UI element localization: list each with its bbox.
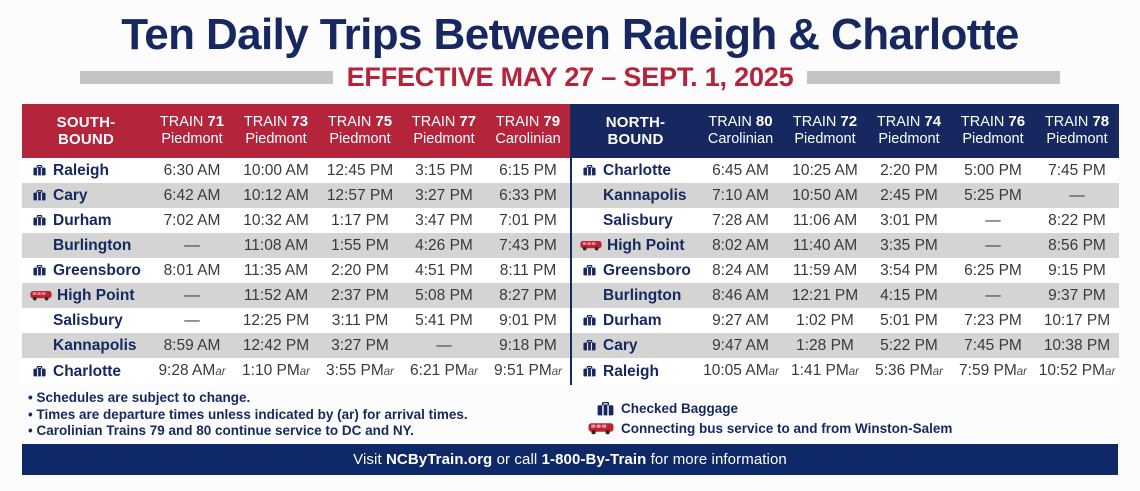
time-cell: 5:22 PM xyxy=(867,333,951,358)
station-cell-inner: Burlington xyxy=(30,237,150,254)
southbound-body: Raleigh6:30 AM10:00 AM12:45 PM3:15 PM6:1… xyxy=(22,158,570,385)
table-row: Salisbury—12:25 PM3:11 PM5:41 PM9:01 PM xyxy=(22,308,570,333)
station-cell: High Point xyxy=(571,233,699,258)
baggage-icon xyxy=(30,265,48,276)
effective-dates: EFFECTIVE MAY 27 – SEPT. 1, 2025 xyxy=(347,62,794,92)
station-name: Charlotte xyxy=(603,162,671,179)
table-row: High Point—11:52 AM2:37 PM5:08 PM8:27 PM xyxy=(22,283,570,308)
time-cell: 4:51 PM xyxy=(402,258,486,283)
column-train-75[interactable]: TRAIN 75 Piedmont xyxy=(318,104,402,158)
time-cell: 8:46 AM xyxy=(699,283,783,308)
time-cell: 8:24 AM xyxy=(699,258,783,283)
time-cell-empty: — xyxy=(150,308,234,333)
time-cell: 7:43 PM xyxy=(486,233,570,258)
time-cell: 6:42 AM xyxy=(150,183,234,208)
time-cell: 6:15 PM xyxy=(486,158,570,183)
baggage-icon xyxy=(580,165,598,176)
time-cell: 3:54 PM xyxy=(867,258,951,283)
time-cell: 12:57 PM xyxy=(318,183,402,208)
time-cell-empty: — xyxy=(951,283,1035,308)
station-name: Salisbury xyxy=(603,212,673,229)
station-name: Kannapolis xyxy=(603,187,687,204)
time-cell: 12:45 PM xyxy=(318,158,402,183)
time-cell: 12:21 PM xyxy=(783,283,867,308)
station-name: Durham xyxy=(53,212,112,229)
northbound-header: NORTH- BOUND TRAIN 80 Carolinian TRAIN 7… xyxy=(571,104,1119,158)
time-cell: 5:00 PM xyxy=(951,158,1035,183)
time-cell: 11:40 AM xyxy=(783,233,867,258)
baggage-icon xyxy=(30,190,48,201)
station-cell-inner: Cary xyxy=(30,187,150,204)
table-row: High Point8:02 AM11:40 AM3:35 PM—8:56 PM xyxy=(571,233,1119,258)
bus-icon xyxy=(30,290,52,301)
rule-left xyxy=(80,71,333,84)
table-row: Burlington—11:08 AM1:55 PM4:26 PM7:43 PM xyxy=(22,233,570,258)
legend: Checked Baggage Connecting bus service t… xyxy=(588,400,1108,440)
baggage-icon xyxy=(30,366,48,377)
station-cell-inner: Burlington xyxy=(580,287,699,304)
station-name: Cary xyxy=(53,187,87,204)
arrival-marker: ar xyxy=(552,366,562,378)
northbound-direction-label: NORTH- BOUND xyxy=(571,104,699,158)
time-cell: 6:33 PM xyxy=(486,183,570,208)
arrival-marker: ar xyxy=(468,366,478,378)
baggage-icon xyxy=(580,340,598,351)
southbound-header: SOUTH- BOUND TRAIN 71 Piedmont TRAIN 73 … xyxy=(22,104,570,158)
page-title: Ten Daily Trips Between Raleigh & Charlo… xyxy=(0,8,1140,62)
table-row: Burlington8:46 AM12:21 PM4:15 PM—9:37 PM xyxy=(571,283,1119,308)
time-cell-empty: — xyxy=(150,283,234,308)
time-cell: 1:55 PM xyxy=(318,233,402,258)
arrival-marker: ar xyxy=(215,366,225,378)
time-cell: 6:30 AM xyxy=(150,158,234,183)
time-cell: 3:47 PM xyxy=(402,208,486,233)
time-cell: 1:10 PMar xyxy=(234,358,318,385)
time-cell: 9:15 PM xyxy=(1035,258,1119,283)
legend-label: Checked Baggage xyxy=(621,400,738,417)
time-cell-empty: — xyxy=(1035,183,1119,208)
time-cell: 3:55 PMar xyxy=(318,358,402,385)
time-cell: 4:15 PM xyxy=(867,283,951,308)
time-cell: 1:41 PMar xyxy=(783,358,867,385)
contact-suffix: for more information xyxy=(646,451,786,468)
time-cell: 3:27 PM xyxy=(318,333,402,358)
column-train-72[interactable]: TRAIN 72 Piedmont xyxy=(783,104,867,158)
southbound-direction-label: SOUTH- BOUND xyxy=(22,104,150,158)
arrival-marker: ar xyxy=(933,366,943,378)
time-cell: 10:50 AM xyxy=(783,183,867,208)
station-cell-inner: Salisbury xyxy=(580,212,699,229)
contact-prefix: Visit xyxy=(353,451,386,468)
table-row: Durham9:27 AM1:02 PM5:01 PM7:23 PM10:17 … xyxy=(571,308,1119,333)
time-cell: 7:45 PM xyxy=(951,333,1035,358)
legend-item-connecting-bus: Connecting bus service to and from Winst… xyxy=(588,420,1108,437)
time-cell: 6:25 PM xyxy=(951,258,1035,283)
bus-icon xyxy=(580,240,602,251)
station-cell: Durham xyxy=(571,308,699,333)
station-cell: Raleigh xyxy=(571,358,699,385)
contact-text: Visit NCByTrain.org or call 1-800-By-Tra… xyxy=(353,451,787,468)
time-cell: 1:17 PM xyxy=(318,208,402,233)
time-cell: 7:28 AM xyxy=(699,208,783,233)
time-cell: 9:28 AMar xyxy=(150,358,234,385)
station-name: Raleigh xyxy=(53,162,109,179)
station-name: Burlington xyxy=(53,237,131,254)
table-row: Raleigh10:05 AMar1:41 PMar5:36 PMar7:59 … xyxy=(571,358,1119,385)
southbound-table: SOUTH- BOUND TRAIN 71 Piedmont TRAIN 73 … xyxy=(22,104,570,385)
time-cell: 3:35 PM xyxy=(867,233,951,258)
station-cell: Burlington xyxy=(22,233,150,258)
station-cell: Durham xyxy=(22,208,150,233)
time-cell: 1:28 PM xyxy=(783,333,867,358)
station-cell: Cary xyxy=(571,333,699,358)
rule-right xyxy=(807,71,1060,84)
station-name: Salisbury xyxy=(53,312,123,329)
arrival-marker: ar xyxy=(384,366,394,378)
station-cell: Salisbury xyxy=(22,308,150,333)
station-cell-inner: Greensboro xyxy=(30,262,150,279)
time-cell: 7:45 PM xyxy=(1035,158,1119,183)
baggage-icon xyxy=(30,215,48,226)
northbound-body: Charlotte6:45 AM10:25 AM2:20 PM5:00 PM7:… xyxy=(571,158,1119,385)
footnote-item: • Schedules are subject to change. xyxy=(28,390,568,407)
arrival-marker: ar xyxy=(1017,366,1027,378)
footnotes: • Schedules are subject to change. • Tim… xyxy=(28,390,568,440)
time-cell: 8:11 PM xyxy=(486,258,570,283)
table-row: Durham7:02 AM10:32 AM1:17 PM3:47 PM7:01 … xyxy=(22,208,570,233)
station-cell: Kannapolis xyxy=(571,183,699,208)
legend-label: Connecting bus service to and from Winst… xyxy=(621,420,952,437)
station-cell-inner: High Point xyxy=(30,287,150,304)
table-row: Salisbury7:28 AM11:06 AM3:01 PM—8:22 PM xyxy=(571,208,1119,233)
time-cell: 10:38 PM xyxy=(1035,333,1119,358)
table-row: Charlotte6:45 AM10:25 AM2:20 PM5:00 PM7:… xyxy=(571,158,1119,183)
baggage-icon xyxy=(580,315,598,326)
station-cell-inner: Durham xyxy=(580,312,699,329)
time-cell: 3:11 PM xyxy=(318,308,402,333)
station-name: Greensboro xyxy=(603,262,691,279)
table-row: Cary6:42 AM10:12 AM12:57 PM3:27 PM6:33 P… xyxy=(22,183,570,208)
time-cell: 10:25 AM xyxy=(783,158,867,183)
time-cell: 8:22 PM xyxy=(1035,208,1119,233)
time-cell: 9:01 PM xyxy=(486,308,570,333)
time-cell: 10:05 AMar xyxy=(699,358,783,385)
time-cell: 5:08 PM xyxy=(402,283,486,308)
station-cell: Cary xyxy=(22,183,150,208)
station-cell: Kannapolis xyxy=(22,333,150,358)
station-cell: Salisbury xyxy=(571,208,699,233)
time-cell: 11:35 AM xyxy=(234,258,318,283)
station-cell-inner: Kannapolis xyxy=(30,337,150,354)
time-cell: 9:27 AM xyxy=(699,308,783,333)
time-cell: 9:37 PM xyxy=(1035,283,1119,308)
contact-bar: Visit NCByTrain.org or call 1-800-By-Tra… xyxy=(22,444,1118,475)
time-cell: 9:51 PMar xyxy=(486,358,570,385)
time-cell: 11:06 AM xyxy=(783,208,867,233)
station-name: Durham xyxy=(603,312,662,329)
time-cell: 10:12 AM xyxy=(234,183,318,208)
arrival-marker: ar xyxy=(1105,366,1115,378)
station-name: High Point xyxy=(57,287,135,304)
arrival-marker: ar xyxy=(769,366,779,378)
station-cell-inner: Charlotte xyxy=(580,162,699,179)
bus-icon xyxy=(588,422,614,435)
arrival-marker: ar xyxy=(849,366,859,378)
time-cell-empty: — xyxy=(150,233,234,258)
header-block: Ten Daily Trips Between Raleigh & Charlo… xyxy=(0,8,1140,62)
website-link[interactable]: NCByTrain.org xyxy=(386,451,492,468)
time-cell: 8:02 AM xyxy=(699,233,783,258)
baggage-icon xyxy=(30,165,48,176)
time-cell: 5:36 PMar xyxy=(867,358,951,385)
time-cell: 8:27 PM xyxy=(486,283,570,308)
contact-middle: or call xyxy=(492,451,541,468)
table-row: Greensboro8:01 AM11:35 AM2:20 PM4:51 PM8… xyxy=(22,258,570,283)
time-cell: 8:01 AM xyxy=(150,258,234,283)
station-cell-inner: Raleigh xyxy=(580,363,699,380)
column-train-80[interactable]: TRAIN 80 Carolinian xyxy=(699,104,783,158)
column-train-74[interactable]: TRAIN 74 Piedmont xyxy=(867,104,951,158)
northbound-table: NORTH- BOUND TRAIN 80 Carolinian TRAIN 7… xyxy=(570,104,1120,385)
time-cell: 4:26 PM xyxy=(402,233,486,258)
time-cell-empty: — xyxy=(951,208,1035,233)
table-row: Greensboro8:24 AM11:59 AM3:54 PM6:25 PM9… xyxy=(571,258,1119,283)
station-cell-inner: Salisbury xyxy=(30,312,150,329)
time-cell: 10:32 AM xyxy=(234,208,318,233)
station-cell: Burlington xyxy=(571,283,699,308)
station-cell-inner: High Point xyxy=(580,237,699,254)
station-name: Greensboro xyxy=(53,262,141,279)
station-cell-inner: Charlotte xyxy=(30,363,150,380)
time-cell: 7:01 PM xyxy=(486,208,570,233)
time-cell: 7:10 AM xyxy=(699,183,783,208)
station-cell-inner: Kannapolis xyxy=(580,187,699,204)
station-cell-inner: Cary xyxy=(580,337,699,354)
time-cell: 2:45 PM xyxy=(867,183,951,208)
column-train-73[interactable]: TRAIN 73 Piedmont xyxy=(234,104,318,158)
time-cell: 2:20 PM xyxy=(318,258,402,283)
time-cell: 5:25 PM xyxy=(951,183,1035,208)
station-cell: Charlotte xyxy=(571,158,699,183)
subtitle-row: EFFECTIVE MAY 27 – SEPT. 1, 2025 xyxy=(0,60,1140,94)
time-cell: 1:02 PM xyxy=(783,308,867,333)
time-cell: 8:59 AM xyxy=(150,333,234,358)
station-cell-inner: Raleigh xyxy=(30,162,150,179)
table-row: Kannapolis8:59 AM12:42 PM3:27 PM—9:18 PM xyxy=(22,333,570,358)
table-row: Cary9:47 AM1:28 PM5:22 PM7:45 PM10:38 PM xyxy=(571,333,1119,358)
time-cell: 12:25 PM xyxy=(234,308,318,333)
baggage-icon xyxy=(580,265,598,276)
column-train-71[interactable]: TRAIN 71 Piedmont xyxy=(150,104,234,158)
station-name: Burlington xyxy=(603,287,681,304)
footnote-item: • Times are departure times unless indic… xyxy=(28,407,568,424)
station-cell-inner: Durham xyxy=(30,212,150,229)
station-name: High Point xyxy=(607,237,685,254)
time-cell: 2:37 PM xyxy=(318,283,402,308)
time-cell: 3:15 PM xyxy=(402,158,486,183)
station-cell: Greensboro xyxy=(571,258,699,283)
time-cell: 7:23 PM xyxy=(951,308,1035,333)
time-cell: 11:59 AM xyxy=(783,258,867,283)
time-cell: 10:17 PM xyxy=(1035,308,1119,333)
column-train-77[interactable]: TRAIN 77 Piedmont xyxy=(402,104,486,158)
column-train-78[interactable]: TRAIN 78 Piedmont xyxy=(1035,104,1119,158)
time-cell: 7:59 PMar xyxy=(951,358,1035,385)
station-name: Kannapolis xyxy=(53,337,137,354)
station-name: Raleigh xyxy=(603,363,659,380)
column-train-76[interactable]: TRAIN 76 Piedmont xyxy=(951,104,1035,158)
column-train-79[interactable]: TRAIN 79 Carolinian xyxy=(486,104,570,158)
time-cell: 9:47 AM xyxy=(699,333,783,358)
station-cell: Charlotte xyxy=(22,358,150,385)
time-cell: 11:08 AM xyxy=(234,233,318,258)
time-cell: 3:01 PM xyxy=(867,208,951,233)
table-row: Charlotte9:28 AMar1:10 PMar3:55 PMar6:21… xyxy=(22,358,570,385)
schedule-tables: SOUTH- BOUND TRAIN 71 Piedmont TRAIN 73 … xyxy=(22,104,1118,385)
time-cell: 6:21 PMar xyxy=(402,358,486,385)
station-cell: Greensboro xyxy=(22,258,150,283)
time-cell: 8:56 PM xyxy=(1035,233,1119,258)
time-cell: 7:02 AM xyxy=(150,208,234,233)
footnote-item: • Carolinian Trains 79 and 80 continue s… xyxy=(28,423,568,440)
table-row: Kannapolis7:10 AM10:50 AM2:45 PM5:25 PM— xyxy=(571,183,1119,208)
station-name: Charlotte xyxy=(53,363,121,380)
station-cell-inner: Greensboro xyxy=(580,262,699,279)
station-cell: High Point xyxy=(22,283,150,308)
time-cell: 6:45 AM xyxy=(699,158,783,183)
time-cell-empty: — xyxy=(951,233,1035,258)
legend-item-checked-baggage: Checked Baggage xyxy=(588,400,1108,417)
schedule-page: Ten Daily Trips Between Raleigh & Charlo… xyxy=(0,0,1140,491)
time-cell: 5:01 PM xyxy=(867,308,951,333)
station-cell: Raleigh xyxy=(22,158,150,183)
table-row: Raleigh6:30 AM10:00 AM12:45 PM3:15 PM6:1… xyxy=(22,158,570,183)
arrival-marker: ar xyxy=(300,366,310,378)
time-cell: 3:27 PM xyxy=(402,183,486,208)
baggage-icon xyxy=(580,366,598,377)
time-cell: 5:41 PM xyxy=(402,308,486,333)
time-cell-empty: — xyxy=(402,333,486,358)
station-name: Cary xyxy=(603,337,637,354)
time-cell: 9:18 PM xyxy=(486,333,570,358)
baggage-icon xyxy=(588,402,614,416)
time-cell: 10:52 PMar xyxy=(1035,358,1119,385)
time-cell: 10:00 AM xyxy=(234,158,318,183)
time-cell: 12:42 PM xyxy=(234,333,318,358)
time-cell: 11:52 AM xyxy=(234,283,318,308)
phone-number[interactable]: 1-800-By-Train xyxy=(542,451,647,468)
time-cell: 2:20 PM xyxy=(867,158,951,183)
